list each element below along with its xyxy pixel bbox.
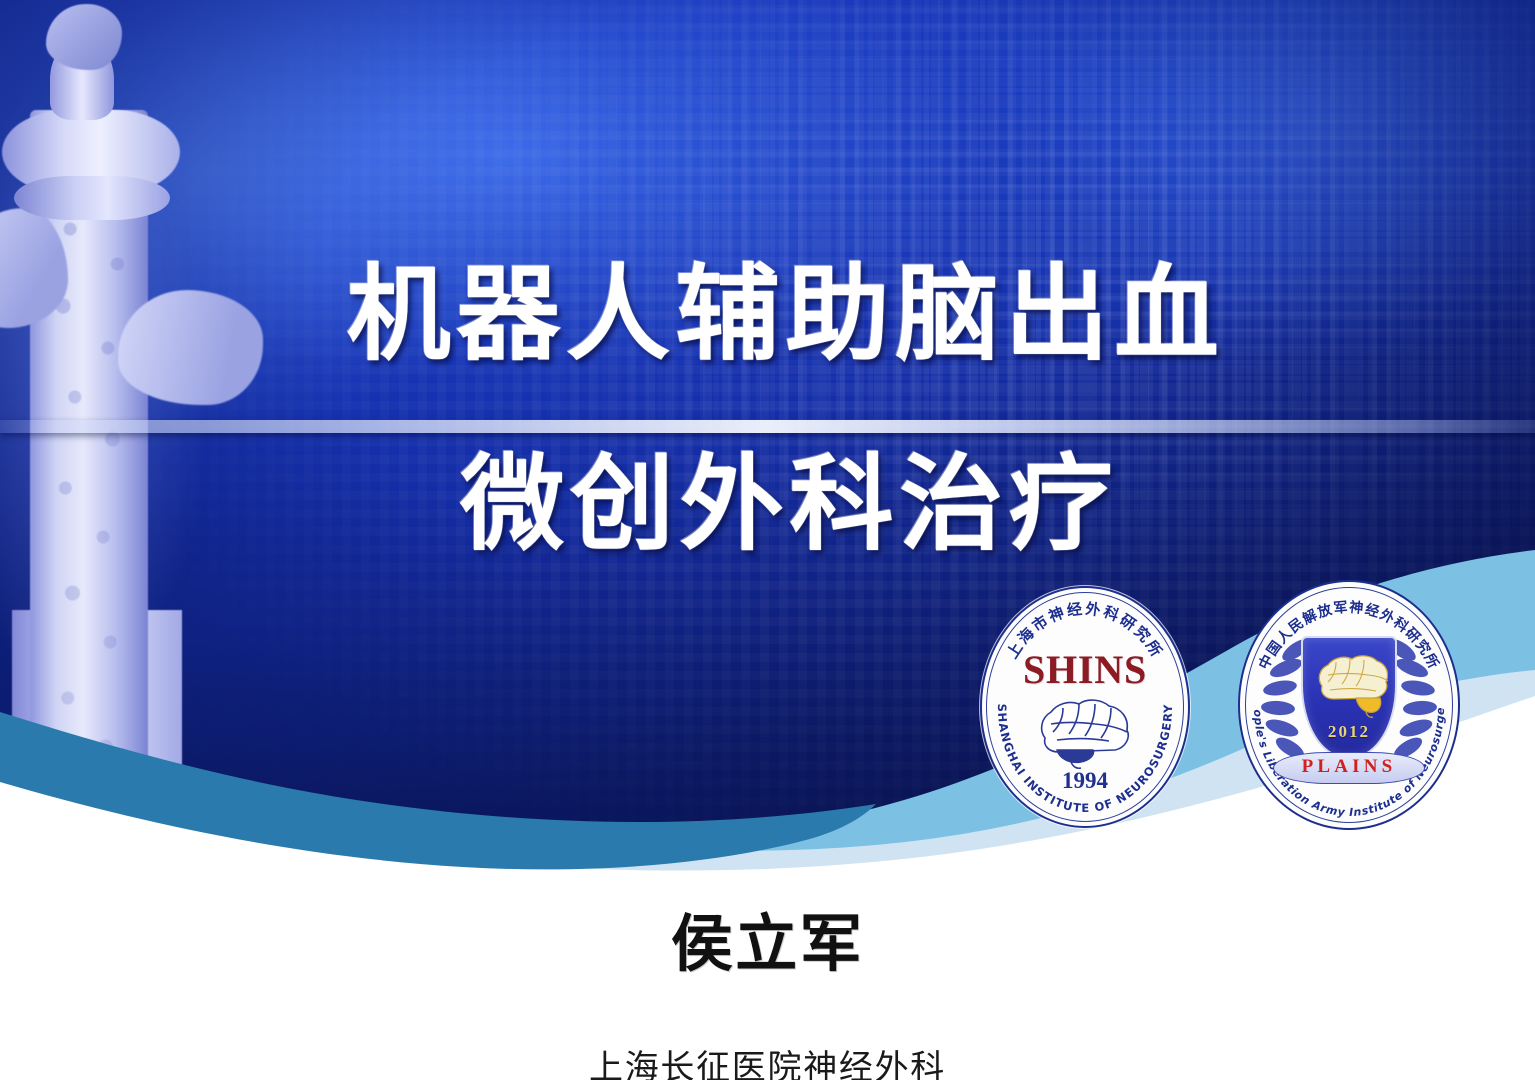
- logo-shins: 上海市神经外科研究所 SHANGHAI INSTITUTE OF NEUROSU…: [980, 586, 1190, 828]
- slide-title-line-1: 机器人辅助脑出血: [0, 258, 1535, 370]
- title-divider-bar: [0, 420, 1535, 433]
- presenter-affiliation: 上海长征医院神经外科: [0, 1040, 1535, 1080]
- brain-gold-icon: [1310, 652, 1388, 718]
- shins-year: 1994: [980, 768, 1190, 794]
- plains-shield: 2012: [1301, 636, 1397, 758]
- huabiao-second-plate: [14, 176, 170, 220]
- plains-year: 2012: [1303, 722, 1395, 742]
- presentation-slide: 机器人辅助脑出血 微创外科治疗 上海市神经外科研究所: [0, 0, 1535, 1080]
- plains-ribbon: PLAINS: [1273, 752, 1425, 784]
- logo-plains: 中国人民解放军神经外科研究所 People's Liberation Army …: [1238, 580, 1460, 830]
- plains-acronym: PLAINS: [1274, 756, 1424, 778]
- brain-icon: [1029, 694, 1141, 770]
- huabiao-beast-statue-icon: [46, 4, 122, 70]
- presenter-name: 侯立军: [0, 893, 1535, 983]
- shins-acronym: SHINS: [980, 646, 1190, 693]
